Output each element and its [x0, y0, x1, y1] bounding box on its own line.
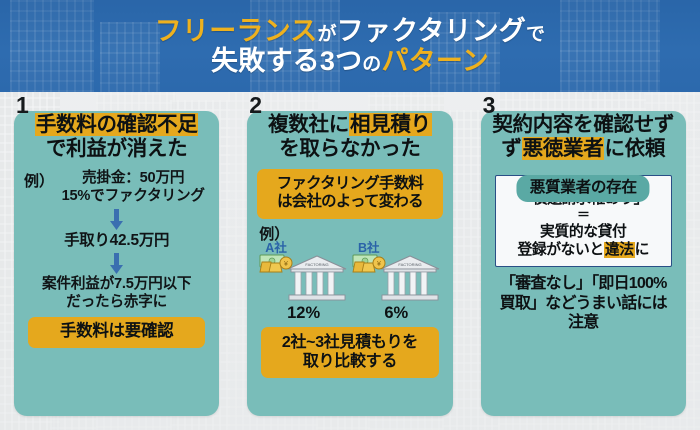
title-seg-factoring: ファクタリング: [337, 16, 526, 46]
example-label-1: 例）: [24, 170, 54, 191]
svg-text:¥: ¥: [377, 261, 381, 268]
card-heading-1: 手数料の確認不足 で利益が消えた: [14, 111, 219, 161]
pattern-columns: 1 手数料の確認不足 で利益が消えた 例） 売掛金：50万円 15%でファクタリ…: [0, 92, 700, 430]
result-text-2: 案件利益が7.5万円以下 だったら赤字に: [22, 276, 211, 312]
bank-rate-a: 12%: [257, 305, 350, 322]
gold-note-line-2a: ファクタリング手数料: [261, 175, 438, 193]
page-title: フリーランスがファクタリングで 失敗する3つのパターン: [0, 0, 700, 92]
card-number-3: 3: [483, 94, 496, 117]
title-seg-shippai: 失敗する: [211, 46, 320, 76]
warning-box-wrapper: 悪質業者の存在 「償還請求権あり」 ＝ 実質的な貸付 登録がないと違法に: [495, 175, 672, 267]
title-seg-pattern: パターン: [381, 46, 488, 76]
cta-line-2a: 2社~3社見積もりを: [265, 333, 434, 352]
pattern-card-1: 1 手数料の確認不足 で利益が消えた 例） 売掛金：50万円 15%でファクタリ…: [0, 92, 233, 430]
card-number-1: 1: [16, 94, 29, 117]
result-text-1: 手取り42.5万円: [22, 232, 211, 251]
title-seg-ga: が: [317, 24, 336, 45]
footer-line-3c: 注意: [493, 313, 674, 333]
title-seg-three: 3つ: [320, 46, 362, 76]
example-lines-1: 売掛金：50万円 15%でファクタリング: [57, 170, 209, 206]
card-heading-3: 契約内容を確認せず ず悪徳業者に依頼: [481, 111, 686, 161]
coin-bag-icon: ¥: [352, 254, 386, 274]
svg-text:¥: ¥: [284, 261, 288, 268]
bank-rate-b: 6%: [350, 305, 443, 322]
title-seg-no: の: [362, 54, 381, 75]
example-block-1: 例） 売掛金：50万円 15%でファクタリング: [22, 164, 211, 206]
gold-note-2: ファクタリング手数料 は会社のよって変わる: [257, 169, 442, 219]
result-line-2b: だったら赤字に: [22, 294, 211, 312]
card-heading-2: 複数社に相見積り を取らなかった: [247, 111, 452, 161]
card-body-1: 手数料の確認不足 で利益が消えた 例） 売掛金：50万円 15%でファクタリング: [14, 111, 219, 416]
example-line-1b: 15%でファクタリング: [57, 188, 209, 206]
example-line-1a: 売掛金：50万円: [57, 170, 209, 188]
bank-label-b: B社: [358, 242, 443, 255]
bank-icon: FACTORING: [379, 254, 441, 304]
title-line-2: 失敗する3つのパターン: [211, 47, 489, 76]
bank-illustration-b: FACTORING ¥: [350, 254, 443, 306]
pattern-card-3: 3 契約内容を確認せず ず悪徳業者に依頼 悪質業者の存在 「償還請求権あり」 ＝…: [467, 92, 700, 430]
svg-text:FACTORING: FACTORING: [398, 262, 421, 267]
bank-illustration-a: FACTORING ¥: [257, 254, 350, 306]
card-heading-3-highlight: 悪徳業者: [522, 137, 605, 160]
card-heading-2-pre: 複数社に: [268, 113, 349, 136]
footer-warning-3: 「審査なし」「即日100% 買取」などうまい話には 注意: [493, 274, 674, 333]
card-heading-3-pre: 契約内容を確認せず: [492, 113, 674, 136]
pattern-card-2: 2 複数社に相見積り を取らなかった ファクタリング手数料 は会社のよって変わる…: [233, 92, 466, 430]
cta-line-2b: 取り比較する: [265, 352, 434, 371]
warning-pill-3: 悪質業者の存在: [517, 175, 650, 202]
card-body-3: 契約内容を確認せず ず悪徳業者に依頼 悪質業者の存在 「償還請求権あり」 ＝ 実…: [481, 111, 686, 416]
bank-item-a: A社 FACTORING: [257, 242, 350, 322]
warning-3d-pre: 登録がないと: [517, 242, 603, 258]
bank-item-b: B社 FACTORING: [350, 242, 443, 322]
card-content-1: 例） 売掛金：50万円 15%でファクタリング 手取り42.5万円: [14, 161, 219, 348]
card-heading-3-su: ず: [501, 137, 521, 160]
bank-comparison: A社 FACTORING: [255, 242, 444, 322]
footer-line-3a: 「審査なし」「即日100%: [493, 274, 674, 294]
svg-text:FACTORING: FACTORING: [305, 262, 328, 267]
title-line-1: フリーランスがファクタリングで: [155, 17, 545, 46]
card-number-2: 2: [249, 94, 262, 117]
warning-line-3b: ＝: [501, 208, 666, 222]
warning-line-3c: 実質的な貸付: [501, 223, 666, 241]
coin-bag-icon: ¥: [259, 254, 293, 274]
card-heading-2-rest: を取らなかった: [279, 137, 420, 160]
title-seg-freelance: フリーランス: [155, 16, 318, 46]
cta-banner-1[interactable]: 手数料は要確認: [28, 317, 205, 348]
warning-3d-highlight: 違法: [604, 242, 635, 258]
card-heading-1-rest: で利益が消えた: [46, 137, 187, 160]
down-arrow-icon: [109, 253, 124, 274]
card-content-2: ファクタリング手数料 は会社のよって変わる 例） A社: [247, 161, 452, 378]
card-heading-3-rest: に依頼: [604, 137, 665, 160]
card-content-3: 悪質業者の存在 「償還請求権あり」 ＝ 実質的な貸付 登録がないと違法に 「審査…: [481, 161, 686, 333]
card-heading-1-highlight: 手数料の確認不足: [35, 113, 199, 136]
gold-note-line-2b: は会社のよって変わる: [261, 193, 438, 211]
bank-label-a: A社: [265, 242, 350, 255]
result-line-2a: 案件利益が7.5万円以下: [22, 276, 211, 294]
card-heading-2-highlight: 相見積り: [349, 113, 432, 136]
cta-banner-2[interactable]: 2社~3社見積もりを 取り比較する: [261, 327, 438, 378]
footer-line-3b: 買取」などうまい話には: [493, 294, 674, 314]
warning-3d-post: に: [635, 242, 649, 258]
infographic-canvas: フリーランスがファクタリングで 失敗する3つのパターン 1 手数料の確認不足 で…: [0, 0, 700, 430]
title-seg-de: で: [526, 24, 545, 45]
warning-line-3d: 登録がないと違法に: [501, 241, 666, 259]
bank-icon: FACTORING: [286, 254, 348, 304]
card-body-2: 複数社に相見積り を取らなかった ファクタリング手数料 は会社のよって変わる 例…: [247, 111, 452, 416]
down-arrow-icon: [109, 209, 124, 230]
